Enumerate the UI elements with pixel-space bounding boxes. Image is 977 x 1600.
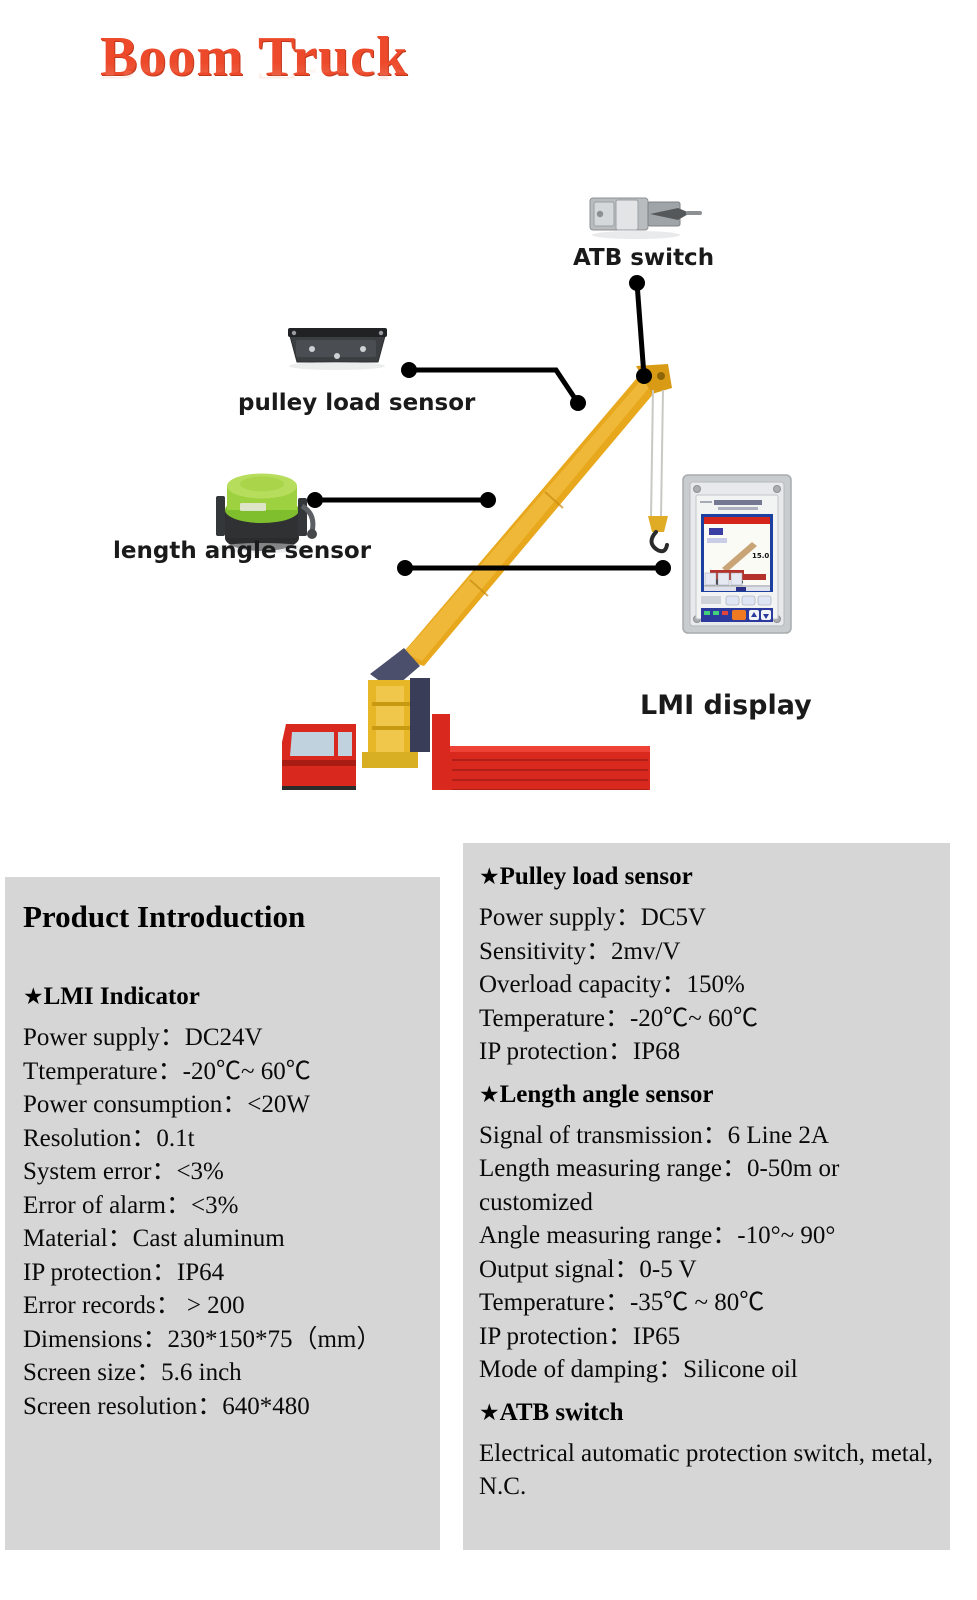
spec-item: Dimensions：230*150*75（mm） — [23, 1323, 424, 1357]
section-heading-lmi-indicator: ★LMI Indicator — [23, 981, 424, 1013]
spec-item: Screen size：5.6 inch — [23, 1356, 424, 1390]
section-heading-text: Length angle sensor — [500, 1081, 714, 1108]
label-pulley-load-sensor: pulley load sensor — [238, 390, 475, 416]
panel-title: Product Introduction — [23, 899, 424, 935]
pulley-load-sensor-image — [288, 328, 387, 370]
spec-item: Electrical automatic protection switch, … — [479, 1437, 936, 1504]
sensor-specs-panel: ★Pulley load sensor Power supply：DC5V Se… — [463, 843, 950, 1550]
spec-list-lmi-indicator: Power supply：DC24V Ttemperature：-20℃~ 60… — [23, 1021, 424, 1423]
svg-text:15.0: 15.0 — [752, 552, 769, 560]
truck-flatbed — [432, 714, 650, 790]
section-heading-atb-switch: ★ATB switch — [479, 1397, 936, 1429]
spec-item: Sensitivity：2mv/V — [479, 935, 936, 969]
spec-item: Ttemperature：-20℃~ 60℃ — [23, 1055, 424, 1089]
spec-item: Output signal：0-5 V — [479, 1253, 936, 1287]
star-icon: ★ — [23, 984, 44, 1010]
spec-item: Temperature：-20℃~ 60℃ — [479, 1002, 936, 1036]
diagram-illustration: 15.0 — [0, 150, 977, 790]
boom-truck-image — [282, 364, 672, 790]
spec-list-atb-switch: Electrical automatic protection switch, … — [479, 1437, 936, 1504]
star-icon: ★ — [479, 864, 500, 890]
label-lmi-display: LMI display — [640, 690, 812, 721]
title-banner: Boom Truck Boom Truck — [0, 26, 977, 116]
section-heading-text: Pulley load sensor — [500, 863, 693, 890]
spec-item: Error records： > 200 — [23, 1289, 424, 1323]
crane-pedestal — [362, 648, 430, 768]
section-heading-pulley-load-sensor: ★Pulley load sensor — [479, 861, 936, 893]
spec-item: Screen resolution：640*480 — [23, 1390, 424, 1424]
spec-item: Error of alarm：<3% — [23, 1189, 424, 1223]
spec-item: Power consumption：<20W — [23, 1088, 424, 1122]
label-atb-switch: ATB switch — [573, 245, 714, 271]
star-icon: ★ — [479, 1082, 500, 1108]
spec-item: Length measuring range：0-50m or customiz… — [479, 1152, 936, 1219]
spec-item: Power supply：DC24V — [23, 1021, 424, 1055]
spec-item: IP protection：IP64 — [23, 1256, 424, 1290]
section-heading-text: ATB switch — [500, 1399, 624, 1426]
spec-item: Overload capacity：150% — [479, 968, 936, 1002]
spec-item: Resolution：0.1t — [23, 1122, 424, 1156]
page-title: Boom Truck — [100, 26, 408, 88]
label-length-angle-sensor: length angle sensor — [113, 538, 371, 564]
lmi-display-image: 15.0 — [683, 475, 791, 633]
spec-item: Mode of damping：Silicone oil — [479, 1353, 936, 1387]
section-heading-length-angle-sensor: ★Length angle sensor — [479, 1079, 936, 1111]
spec-list-pulley-load-sensor: Power supply：DC5V Sensitivity：2mv/V Over… — [479, 901, 936, 1069]
atb-switch-image — [590, 198, 702, 239]
spec-item: Angle measuring range：-10°~ 90° — [479, 1219, 936, 1253]
spec-item: Material：Cast aluminum — [23, 1222, 424, 1256]
truck-cab — [282, 724, 356, 790]
crane-hook-assembly — [648, 390, 668, 551]
spec-item: IP protection：IP65 — [479, 1320, 936, 1354]
product-diagram: 15.0 — [0, 150, 977, 790]
spec-item: Temperature：-35℃ ~ 80℃ — [479, 1286, 936, 1320]
spec-list-length-angle-sensor: Signal of transmission：6 Line 2A Length … — [479, 1119, 936, 1387]
product-introduction-panel: Product Introduction ★LMI Indicator Powe… — [5, 877, 440, 1550]
spec-item: Signal of transmission：6 Line 2A — [479, 1119, 936, 1153]
spec-item: IP protection：IP68 — [479, 1035, 936, 1069]
star-icon: ★ — [479, 1400, 500, 1426]
spec-item: System error：<3% — [23, 1155, 424, 1189]
section-heading-text: LMI Indicator — [44, 983, 200, 1010]
spec-item: Power supply：DC5V — [479, 901, 936, 935]
